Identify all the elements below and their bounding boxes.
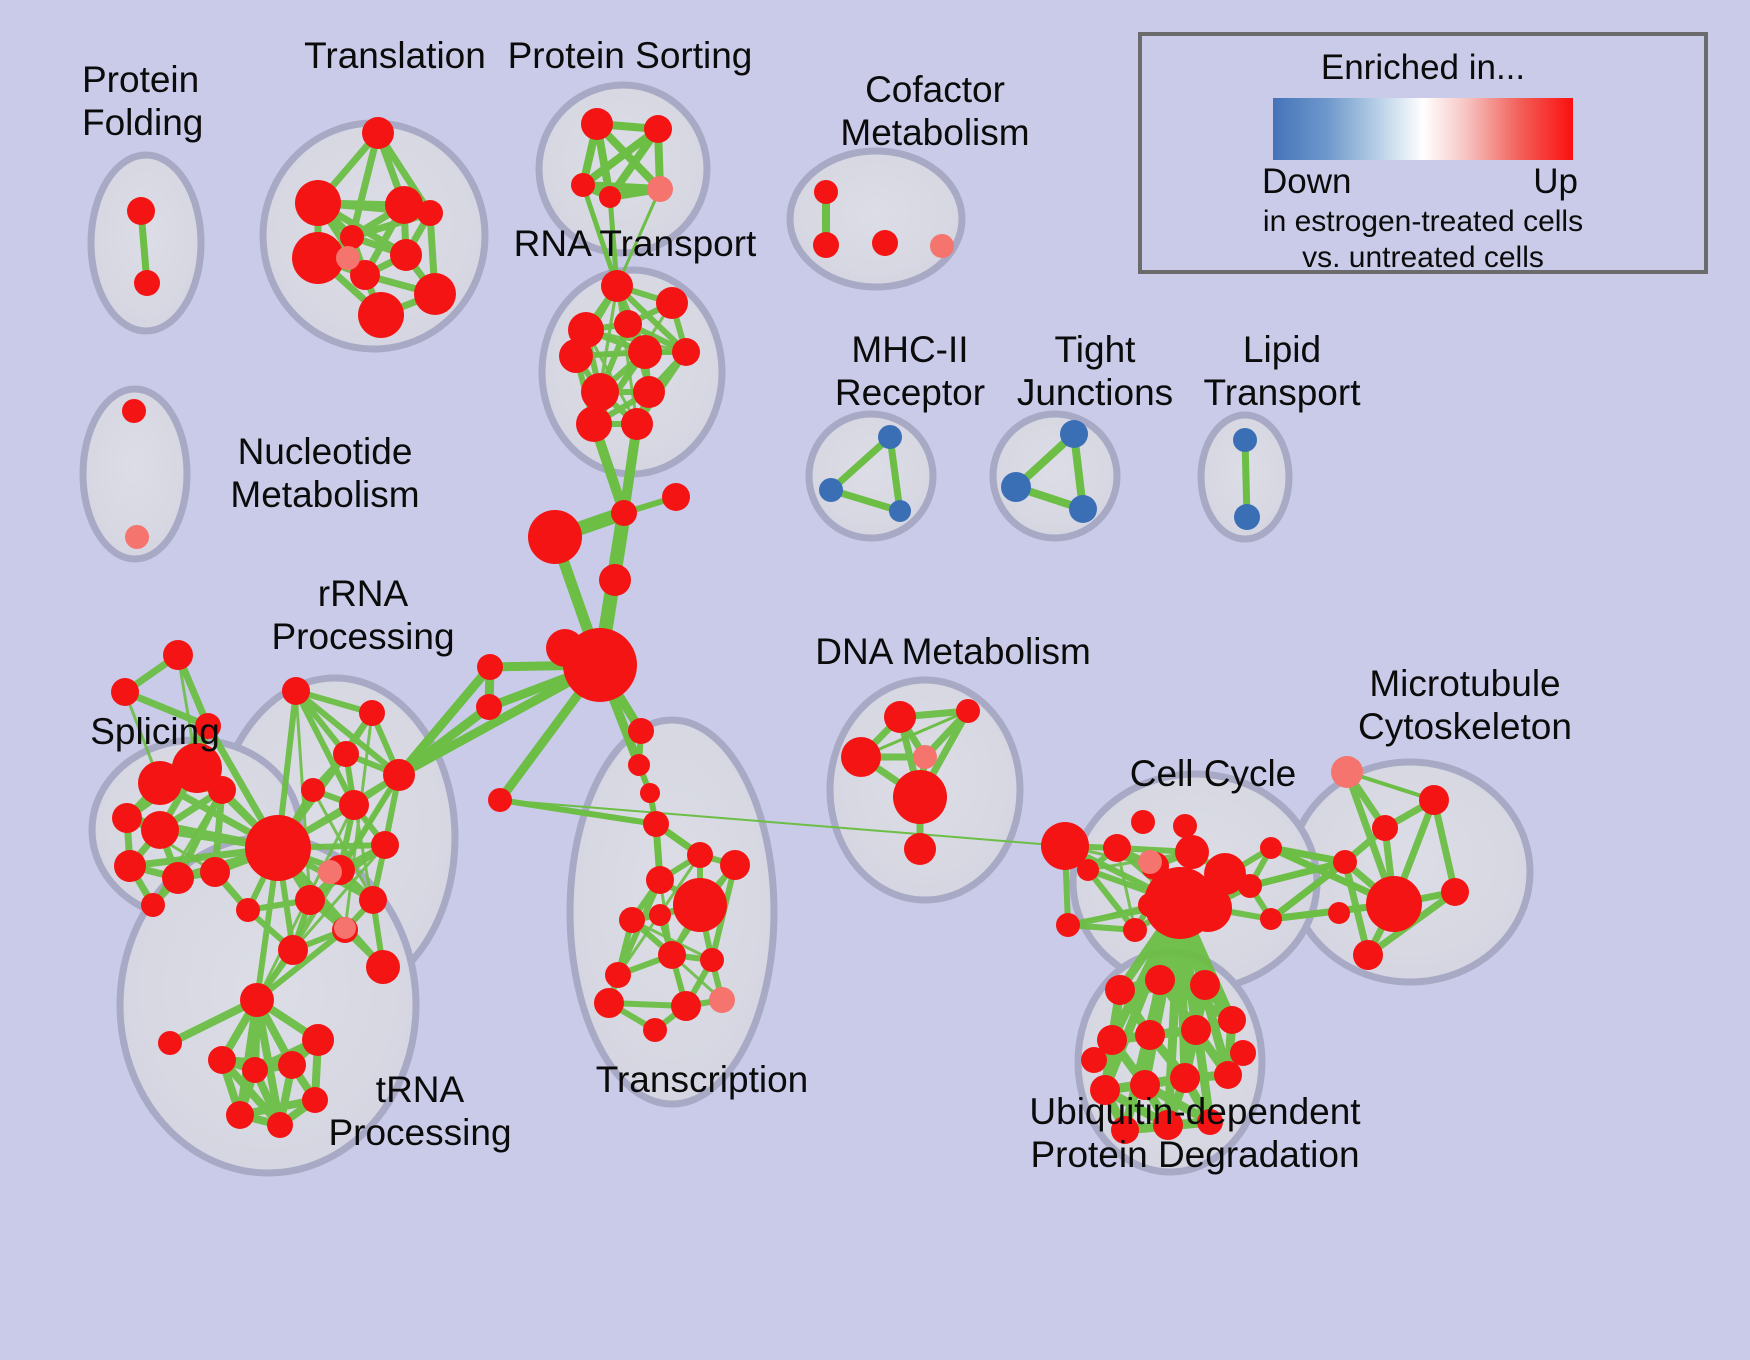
node [111,678,139,706]
cluster-label-rrna-processing: rRNA Processing [248,572,478,658]
node [1123,918,1147,942]
node [700,948,724,972]
node [1353,940,1383,970]
node [647,176,673,202]
node [334,917,356,939]
node [904,833,936,865]
node [841,737,881,777]
enrichment-map-figure: Protein Folding Translation Protein Sort… [0,0,1750,1360]
node [359,700,385,726]
node [872,230,898,256]
cluster-label-cofactor-metabolism: Cofactor Metabolism [800,68,1070,154]
node [1328,902,1350,924]
node [633,376,665,408]
cluster-label-microtubule-cyto: Microtubule Cytoskeleton [1300,662,1630,748]
node [245,815,311,881]
node [359,886,387,914]
node [278,935,308,965]
node [1260,837,1282,859]
cluster-label-dna-metabolism: DNA Metabolism [808,630,1098,673]
cluster-label-trna-processing: tRNA Processing [300,1068,540,1154]
node [1230,1040,1256,1066]
node [1056,913,1080,937]
node [358,292,404,338]
node [720,850,750,880]
cluster-label-ubiquitin-degrad: Ubiquitin-dependent Protein Degradation [985,1090,1405,1176]
node [366,950,400,984]
node [1105,975,1135,1005]
node [267,1112,293,1138]
node [1214,1061,1242,1089]
node [383,759,415,791]
node [614,310,642,338]
cluster-label-nucleotide-metab: Nucleotide Metabolism [185,430,465,516]
node [1238,874,1262,898]
node [1190,970,1220,1000]
node [644,115,672,143]
node [673,878,727,932]
node [1331,756,1363,788]
node [127,197,155,225]
node [658,941,686,969]
node [643,1018,667,1042]
node [1181,1015,1211,1045]
legend-up-label: Up [1533,162,1578,202]
node [878,425,902,449]
node [414,273,456,315]
node [1218,1006,1246,1034]
node [619,907,645,933]
node [336,246,360,270]
node [628,335,662,369]
node [576,406,612,442]
node [208,1046,236,1074]
node [1069,495,1097,523]
node [687,842,713,868]
node [371,831,399,859]
node [893,770,947,824]
node [1131,810,1155,834]
node [476,694,502,720]
legend-color-gradient-bar [1273,98,1573,160]
node [236,898,260,922]
node [1138,850,1162,874]
node [1260,908,1282,930]
node [611,500,637,526]
node [125,525,149,549]
node [930,234,954,258]
halo-mhc [809,414,933,538]
node [226,1101,254,1129]
node [141,811,179,849]
node [571,173,595,197]
node [141,893,165,917]
node [1234,504,1260,530]
node [1077,859,1099,881]
cluster-label-lipid-transport: Lipid Transport [1172,328,1392,414]
node [546,629,584,667]
node [1144,867,1216,939]
cluster-label-rna-transport: RNA Transport [500,222,770,265]
node [1135,1020,1165,1050]
node [605,962,631,988]
node [1173,814,1197,838]
legend-subtitle-line2: vs. untreated cells [1142,240,1704,276]
node [581,373,619,411]
node [208,776,236,804]
legend-panel: Enriched in... Down Up in estrogen-treat… [1138,32,1708,274]
node [599,186,621,208]
node [649,904,671,926]
node [640,783,660,803]
node [1103,834,1131,862]
node [1333,850,1357,874]
legend-endpoint-labels: Down Up [1258,162,1588,204]
node [385,186,423,224]
node [671,991,701,1021]
node [1081,1047,1107,1073]
node [114,850,146,882]
node [1441,878,1469,906]
node [819,478,843,502]
cluster-label-protein-sorting: Protein Sorting [500,34,760,77]
node [333,741,359,767]
node [163,640,193,670]
legend-subtitle-line1: in estrogen-treated cells [1142,204,1704,240]
node [1060,420,1088,448]
node [672,338,700,366]
node [295,180,341,226]
node [112,803,142,833]
node [134,270,160,296]
node [302,1024,334,1056]
halo-cofactor [790,151,962,287]
node [709,987,735,1013]
node [339,790,369,820]
node [158,1031,182,1055]
node [656,287,688,319]
node [162,862,194,894]
node [599,564,631,596]
node [913,745,937,769]
cluster-label-splicing: Splicing [55,710,255,753]
node [340,225,364,249]
legend-title: Enriched in... [1142,48,1704,88]
node [240,983,274,1017]
node [417,200,443,226]
node [1233,428,1257,452]
node [1419,785,1449,815]
node [646,866,674,894]
node [318,860,342,884]
node [628,718,654,744]
node [1175,835,1209,869]
node [662,483,690,511]
node [295,885,325,915]
cluster-label-translation: Translation [270,34,520,77]
node [956,699,980,723]
node [1366,876,1422,932]
node [594,988,624,1018]
node [628,754,650,776]
node [1145,965,1175,995]
node [1001,472,1031,502]
node [200,857,230,887]
node [884,701,916,733]
node [242,1057,268,1083]
node [643,811,669,837]
node [559,339,593,373]
node [390,239,422,271]
node [581,108,613,140]
node [1372,815,1398,841]
node [1170,1063,1200,1093]
node [528,510,582,564]
node [889,500,911,522]
node [488,788,512,812]
cluster-label-transcription: Transcription [572,1058,832,1101]
node [813,232,839,258]
node [362,117,394,149]
node [814,180,838,204]
cluster-label-cell-cycle: Cell Cycle [1098,752,1328,795]
legend-down-label: Down [1262,162,1351,202]
node [122,399,146,423]
node [621,408,653,440]
node [282,677,310,705]
node [301,778,325,802]
node [601,270,633,302]
node [477,654,503,680]
